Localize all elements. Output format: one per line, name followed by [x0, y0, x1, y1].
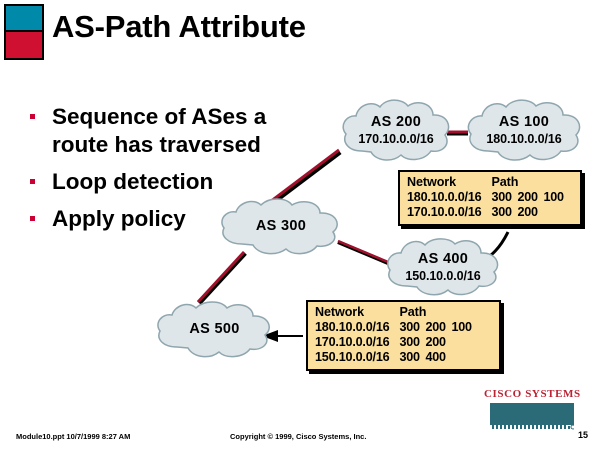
cisco-bridge-icon [490, 403, 574, 433]
cisco-systems-logo: CISCO SYSTEMS [484, 388, 580, 436]
routing-table: Network Path 180.10.0.0/16 300200100 170… [315, 305, 477, 365]
cloud-label-as400: AS 400 [382, 251, 504, 267]
path-as: 300 [399, 350, 425, 364]
column-header-path: Path [399, 305, 477, 320]
bullet-dot-icon [30, 179, 35, 184]
cisco-wordmark: CISCO SYSTEMS [484, 388, 580, 400]
cloud-as500: AS 500 [152, 300, 277, 362]
table-row: 150.10.0.0/16 300400 [315, 350, 477, 365]
cell-path: 300200100 [491, 190, 569, 205]
list-item: Loop detection [22, 168, 322, 196]
bgp-table-as400: Network Path 180.10.0.0/16 300200100 170… [398, 170, 582, 226]
cell-network: 180.10.0.0/16 [407, 190, 491, 205]
column-header-path: Path [491, 175, 569, 190]
page-number: 15 [578, 430, 588, 440]
bullet-dot-icon [30, 216, 35, 221]
footer-file-info: Module10.ppt 10/7/1999 8:27 AM [16, 432, 130, 441]
path-as: 300 [491, 190, 517, 204]
cloud-label-as100: AS 100 [463, 114, 585, 130]
cloud-label-as200: AS 200 [338, 114, 454, 130]
cloud-as300: AS 300 [216, 197, 346, 259]
cell-path: 300400 [399, 350, 477, 365]
path-as: 300 [399, 320, 425, 334]
cell-network: 170.10.0.0/16 [407, 205, 491, 220]
bullet-text: Sequence of ASes a route has traversed [52, 104, 266, 157]
bullet-text: Loop detection [52, 169, 213, 194]
cloud-as400: AS 400 150.10.0.0/16 [382, 236, 504, 302]
column-header-network: Network [407, 175, 491, 190]
cell-network: 170.10.0.0/16 [315, 335, 399, 350]
cell-path: 300200 [491, 205, 569, 220]
link-as300-as500 [198, 252, 244, 302]
cell-network: 150.10.0.0/16 [315, 350, 399, 365]
page-title: AS-Path Attribute [52, 9, 306, 45]
path-as: 100 [543, 190, 569, 204]
bullet-dot-icon [30, 114, 35, 119]
footer-copyright: Copyright © 1999, Cisco Systems, Inc. [230, 432, 366, 441]
cloud-as200: AS 200 170.10.0.0/16 [338, 97, 454, 169]
logo-square-top [6, 6, 42, 32]
table-header-row: Network Path [315, 305, 477, 320]
cell-network: 180.10.0.0/16 [315, 320, 399, 335]
path-as: 100 [451, 320, 477, 334]
cloud-network-as100: 180.10.0.0/16 [463, 132, 585, 146]
slide-canvas: AS-Path Attribute Sequence of ASes a rou… [0, 0, 600, 450]
cloud-label-as300: AS 300 [216, 218, 346, 234]
logo-square-bottom [6, 32, 42, 58]
cell-path: 300200100 [399, 320, 477, 335]
column-header-network: Network [315, 305, 399, 320]
cell-path: 300200 [399, 335, 477, 350]
path-as: 200 [425, 320, 451, 334]
cloud-as100: AS 100 180.10.0.0/16 [463, 97, 585, 169]
list-item: Sequence of ASes a route has traversed [22, 103, 322, 159]
table-row: 180.10.0.0/16 300200100 [315, 320, 477, 335]
path-as: 200 [517, 190, 543, 204]
link-as300-as500-shadow [199, 253, 245, 303]
table-row: 170.10.0.0/16 300200 [315, 335, 477, 350]
cloud-network-as400: 150.10.0.0/16 [382, 269, 504, 283]
table-row: 170.10.0.0/16 300200 [407, 205, 569, 220]
bgp-table-as500: Network Path 180.10.0.0/16 300200100 170… [306, 300, 501, 371]
bullet-text: Apply policy [52, 206, 186, 231]
cisco-square-logo [4, 4, 44, 60]
cloud-label-as500: AS 500 [152, 321, 277, 337]
path-as: 400 [425, 350, 451, 364]
table-header-row: Network Path [407, 175, 569, 190]
path-as: 300 [399, 335, 425, 349]
table-row: 180.10.0.0/16 300200100 [407, 190, 569, 205]
cloud-network-as200: 170.10.0.0/16 [338, 132, 454, 146]
routing-table: Network Path 180.10.0.0/16 300200100 170… [407, 175, 569, 220]
path-as: 200 [425, 335, 451, 349]
path-as: 300 [491, 205, 517, 219]
path-as: 200 [517, 205, 543, 219]
